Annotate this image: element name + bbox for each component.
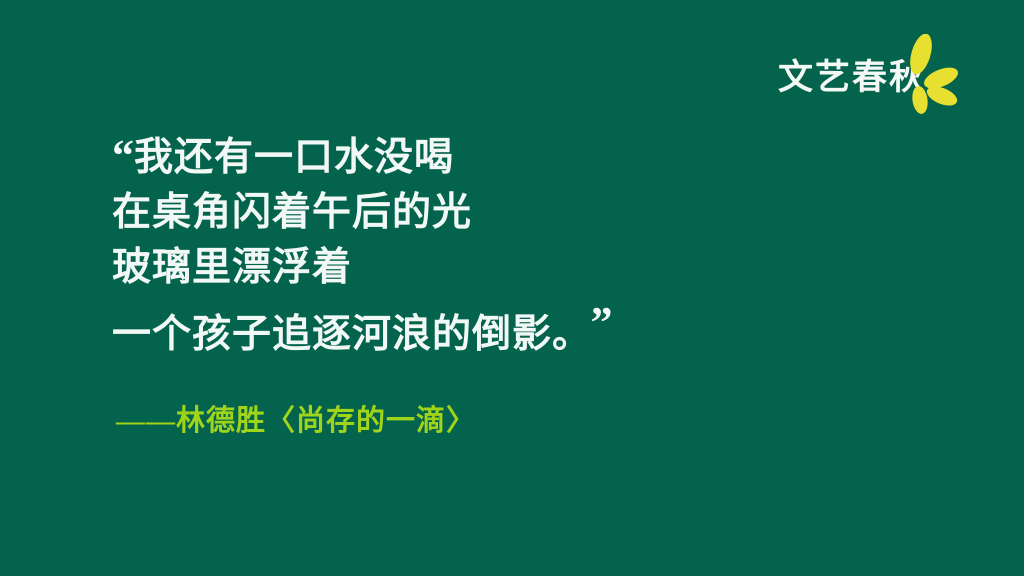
quote-line-4: 一个孩子追逐河浪的倒影。” <box>112 295 812 362</box>
quote-line-1-text: 我还有一口水没喝 <box>134 136 454 179</box>
quote-line-3: 玻璃里漂浮着 <box>112 240 812 295</box>
quote-line-2: 在桌角闪着午后的光 <box>112 185 812 240</box>
quote-block: “我还有一口水没喝 在桌角闪着午后的光 玻璃里漂浮着 一个孩子追逐河浪的倒影。” <box>112 128 812 362</box>
quote-line-4-text: 一个孩子追逐河浪的倒影。 <box>112 313 573 356</box>
brand-logo: 文艺春秋 <box>778 38 964 120</box>
quote-line-2-text: 在桌角闪着午后的光 <box>112 191 472 234</box>
four-petal-leaf-icon <box>896 34 966 120</box>
quote-slide: 文艺春秋 “我还有一口水没喝 在桌角闪着午后的光 玻璃里漂浮着 一个孩子追逐河浪… <box>0 0 1024 576</box>
attribution-line: ——林德胜〈尚存的一滴〉 <box>116 404 476 439</box>
close-quote-mark: ” <box>591 298 613 347</box>
quote-line-1: “我还有一口水没喝 <box>112 128 812 185</box>
open-quote-mark: “ <box>112 131 134 180</box>
quote-line-3-text: 玻璃里漂浮着 <box>112 246 352 289</box>
